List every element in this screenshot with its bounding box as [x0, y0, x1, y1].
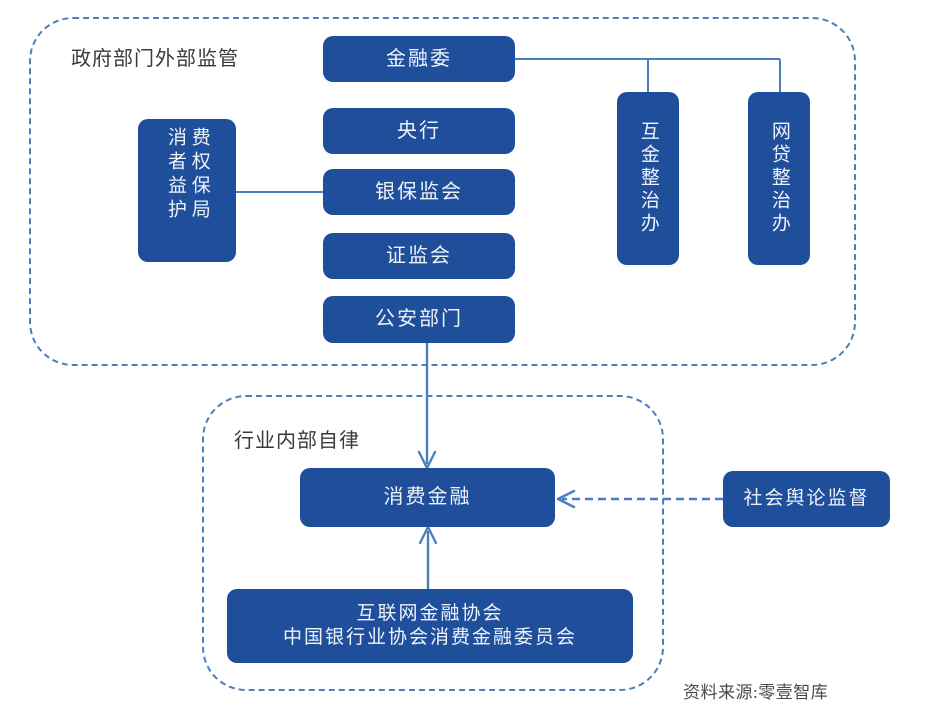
node-consumer-finance[interactable]: 消费金融	[300, 468, 555, 527]
group-title-government-supervision: 政府部门外部监管	[71, 42, 239, 71]
node-public-security[interactable]: 公安部门	[323, 296, 515, 343]
node-consumer-protection-bureau[interactable]: 消者益护费权保局	[138, 119, 236, 262]
node-central-bank[interactable]: 央行	[323, 108, 515, 154]
node-csrc[interactable]: 证监会	[323, 233, 515, 279]
node-internet-finance-rectification-office-label: 互金整治办	[636, 121, 660, 236]
node-p2p-lending-rectification-office[interactable]: 网贷整治办	[748, 92, 810, 265]
node-internet-finance-rectification-office[interactable]: 互金整治办	[617, 92, 679, 265]
group-title-industry-self-regulation: 行业内部自律	[234, 424, 360, 453]
node-cbirc[interactable]: 银保监会	[323, 169, 515, 215]
node-consumer-protection-bureau-col1: 消者益护	[163, 127, 187, 223]
node-p2p-lending-rectification-office-label: 网贷整治办	[767, 121, 791, 236]
node-industry-associations[interactable]: 互联网金融协会 中国银行业协会消费金融委员会	[227, 589, 633, 663]
node-public-security-label: 公安部门	[375, 307, 463, 332]
node-public-opinion-supervision[interactable]: 社会舆论监督	[723, 471, 890, 527]
source-note: 资料来源:零壹智库	[683, 678, 828, 703]
node-consumer-finance-label: 消费金融	[384, 485, 472, 510]
node-financial-committee-label: 金融委	[386, 47, 452, 72]
node-cbirc-label: 银保监会	[375, 180, 463, 205]
node-csrc-label: 证监会	[386, 244, 452, 269]
node-public-opinion-supervision-label: 社会舆论监督	[743, 487, 869, 511]
node-industry-associations-line1: 互联网金融协会	[283, 602, 577, 626]
diagram-canvas: 政府部门外部监管 行业内部自律 金融委 央行 银保监会 证监会 公安部门 消者益…	[0, 0, 937, 710]
node-consumer-protection-bureau-col2: 费权保局	[187, 127, 211, 223]
node-central-bank-label: 央行	[397, 119, 441, 144]
node-industry-associations-line2: 中国银行业协会消费金融委员会	[283, 626, 577, 650]
node-financial-committee[interactable]: 金融委	[323, 36, 515, 82]
